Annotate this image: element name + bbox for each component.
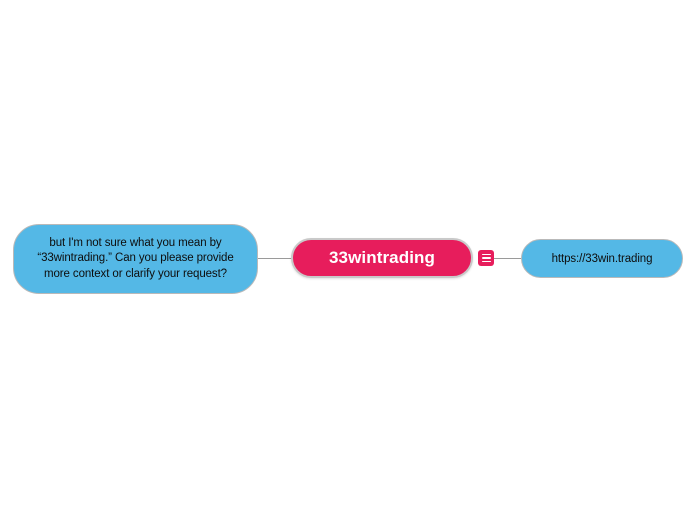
note-line-3: [482, 261, 491, 263]
connector-root-to-right-branch: [492, 258, 524, 259]
note-list-icon[interactable]: [478, 250, 494, 266]
mindmap-root-node[interactable]: 33wintrading: [291, 238, 473, 278]
mindmap-node-right-branch[interactable]: https://33win.trading: [521, 239, 683, 278]
mindmap-canvas: but I'm not sure what you mean by “33win…: [0, 0, 697, 520]
mindmap-node-left-branch-label: but I'm not sure what you mean by “33win…: [24, 236, 247, 283]
mindmap-root-node-label: 33wintrading: [329, 248, 435, 268]
mindmap-node-right-branch-label: https://33win.trading: [552, 252, 653, 266]
note-line-1: [482, 254, 491, 256]
mindmap-node-left-branch[interactable]: but I'm not sure what you mean by “33win…: [13, 224, 258, 294]
note-line-2: [482, 257, 491, 259]
connector-root-to-left-branch: [256, 258, 294, 259]
